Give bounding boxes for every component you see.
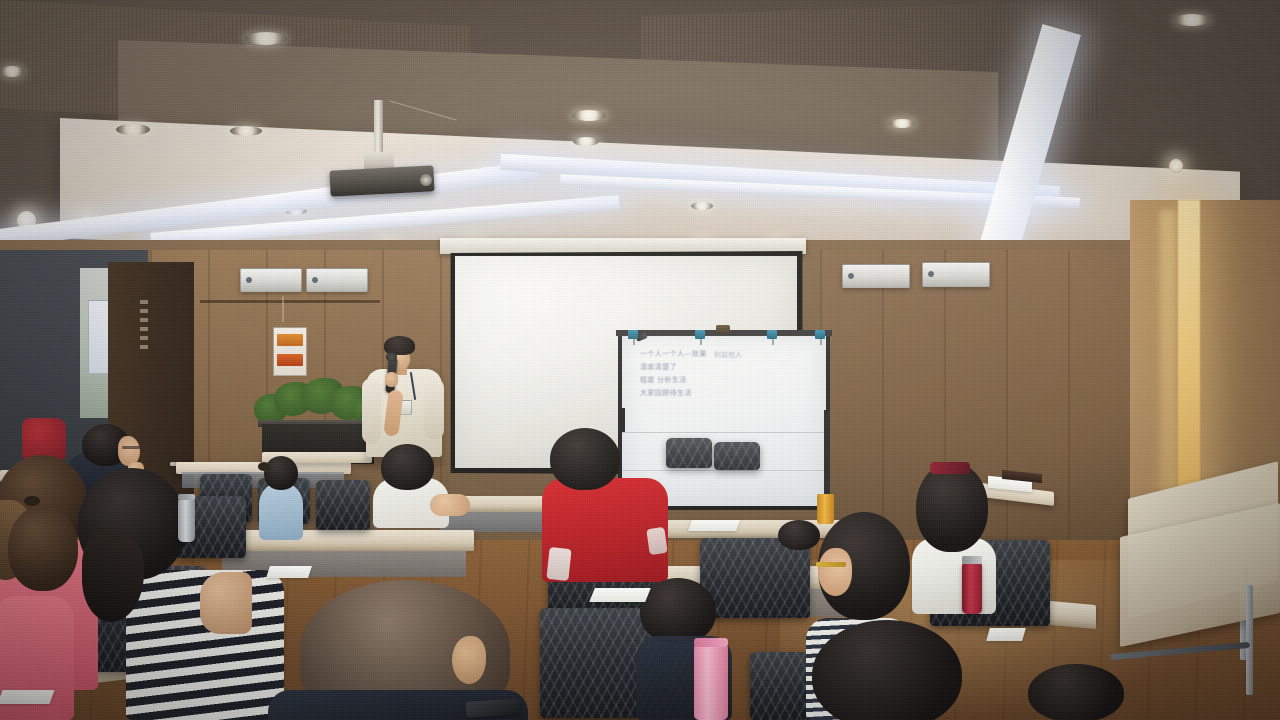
paper-crease bbox=[622, 432, 826, 433]
binder-clip[interactable] bbox=[695, 330, 705, 339]
binder-clip[interactable] bbox=[767, 330, 777, 339]
hair-clip-icon bbox=[930, 462, 970, 474]
downlight-icon bbox=[116, 124, 150, 135]
yellow-paper-cup bbox=[817, 494, 834, 524]
mesh-chair[interactable] bbox=[700, 538, 810, 618]
wall-speaker bbox=[240, 268, 302, 292]
attendee-ear bbox=[452, 636, 486, 684]
hair-tie-icon bbox=[258, 462, 270, 471]
handout-paper[interactable] bbox=[266, 566, 312, 578]
speaker-dot-icon bbox=[848, 273, 854, 279]
attendee-head bbox=[778, 520, 820, 550]
downlight-icon bbox=[1169, 159, 1183, 173]
downlight-icon bbox=[230, 126, 262, 136]
attendee-child-head bbox=[264, 456, 298, 490]
handout-paper[interactable] bbox=[589, 588, 651, 602]
wall-speaker bbox=[306, 268, 368, 292]
red-thermos bbox=[962, 562, 982, 614]
training-table bbox=[214, 530, 474, 546]
microphone-head-icon bbox=[386, 352, 397, 362]
binder-clip[interactable] bbox=[815, 330, 825, 339]
presenter-arm-right bbox=[424, 378, 444, 440]
attendee-head bbox=[1028, 664, 1124, 720]
eyeglasses-icon bbox=[122, 446, 140, 449]
flipchart-leg bbox=[620, 408, 625, 432]
thermos-cap bbox=[962, 556, 982, 564]
wall-poster bbox=[273, 327, 307, 376]
attendee-child-torso bbox=[259, 482, 303, 540]
poster-band bbox=[277, 354, 303, 366]
picture-rail bbox=[200, 300, 380, 303]
classroom-photo: 一个人一个人—效果 清楽清楚了 程度 分析生活 大家回顾待生活 利益他人 bbox=[0, 0, 1280, 720]
eyeglasses-icon bbox=[816, 562, 846, 567]
polo-trim bbox=[646, 527, 667, 555]
flipchart-top-bracket bbox=[716, 325, 730, 334]
bottle-cap bbox=[694, 638, 728, 647]
handout-paper[interactable] bbox=[0, 690, 55, 704]
mesh-chair[interactable] bbox=[316, 480, 370, 530]
rail-hook bbox=[282, 296, 284, 322]
presenter-arm-left bbox=[362, 378, 381, 444]
downlight-icon bbox=[245, 32, 287, 45]
downlight-icon bbox=[1174, 14, 1210, 26]
presenter-hand bbox=[385, 372, 398, 387]
ceiling-projector bbox=[329, 165, 434, 196]
speaker-dot-icon bbox=[928, 271, 934, 277]
flipchart-handwriting-right: 利益他人 bbox=[714, 350, 742, 360]
handout-paper[interactable] bbox=[688, 520, 740, 531]
attendee-child-head bbox=[381, 444, 434, 490]
downlight-icon bbox=[0, 66, 24, 77]
attendee-head bbox=[8, 505, 78, 591]
folded-table-leg bbox=[1246, 585, 1253, 695]
speaker-dot-icon bbox=[246, 277, 252, 283]
downlight-icon bbox=[691, 202, 713, 210]
attendee-head bbox=[916, 462, 988, 552]
attendee-arm bbox=[200, 572, 252, 634]
polo-trim bbox=[546, 547, 571, 581]
attendee-child-arm bbox=[430, 494, 470, 516]
door-sign bbox=[140, 300, 148, 350]
pink-water-bottle bbox=[694, 644, 728, 720]
notebook[interactable] bbox=[986, 628, 1026, 641]
downlight-icon bbox=[573, 137, 599, 146]
downlight-icon bbox=[572, 110, 606, 121]
attendee-head bbox=[550, 428, 620, 490]
downlight-icon bbox=[889, 119, 915, 128]
paper-crease bbox=[622, 470, 826, 471]
wall-speaker bbox=[842, 264, 910, 288]
wall-speaker bbox=[922, 262, 990, 287]
attendee-face bbox=[818, 548, 852, 596]
attendee-head bbox=[640, 578, 716, 644]
poster-band bbox=[277, 334, 303, 346]
attendee-head bbox=[812, 620, 962, 720]
projector-lens-icon bbox=[420, 174, 432, 186]
projector-mount-pole bbox=[374, 100, 383, 158]
steel-thermos bbox=[178, 498, 195, 542]
mesh-chair[interactable] bbox=[714, 442, 760, 470]
red-bag bbox=[22, 418, 66, 460]
mesh-chair[interactable] bbox=[666, 438, 712, 468]
binder-clip[interactable] bbox=[628, 330, 638, 339]
speaker-dot-icon bbox=[312, 277, 318, 283]
thermos-cap bbox=[178, 494, 195, 500]
